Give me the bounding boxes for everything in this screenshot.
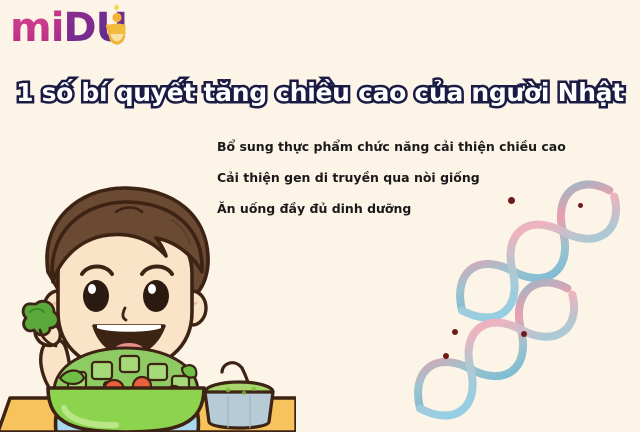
- dna-dot-3: [452, 329, 458, 335]
- sparkle-icon: [112, 3, 121, 12]
- page-title: 1 số bí quyết tăng chiều cao của người N…: [0, 78, 640, 107]
- salad-bowl: [48, 388, 204, 432]
- dna-helix-lower: [390, 250, 600, 432]
- dna-dot-5: [443, 353, 449, 359]
- child-figure-icon: [104, 12, 130, 46]
- dna-dot-4: [521, 331, 527, 337]
- midu-logo[interactable]: miDU: [8, 2, 138, 54]
- logo-letter-d: D: [63, 5, 95, 51]
- boy-eating-salad-illustration: [0, 186, 296, 432]
- infographic-canvas: miDU 1 số bí quyết tăng chiều cao của ng…: [0, 0, 640, 432]
- soup-bowl: [205, 363, 273, 428]
- dna-dot-2: [578, 203, 583, 208]
- dna-dot-1: [508, 197, 515, 204]
- logo-letter-m: m: [10, 5, 51, 51]
- logo-letter-i: i: [51, 5, 64, 51]
